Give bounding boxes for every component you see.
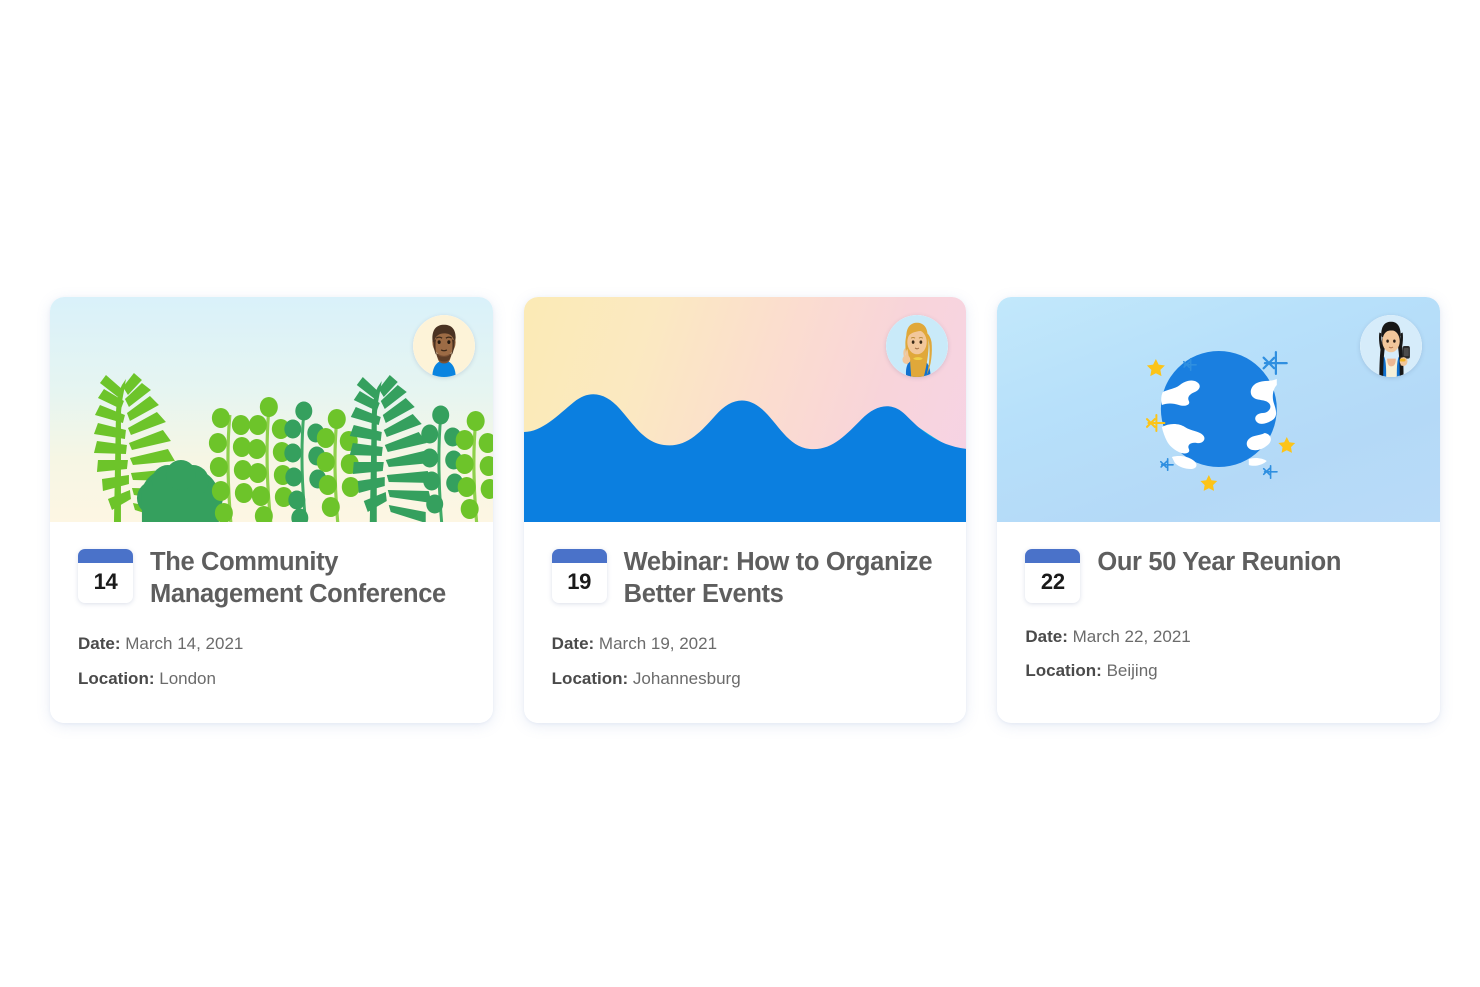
calendar-icon: 19 (552, 549, 607, 603)
date-value: March 22, 2021 (1073, 627, 1191, 646)
card-body: 19 Webinar: How to Organize Better Event… (524, 522, 967, 723)
calendar-icon: 14 (78, 549, 133, 603)
card-title-row: 22 Our 50 Year Reunion (1025, 545, 1412, 603)
date-label: Date: (552, 634, 595, 653)
card-hero-image (50, 297, 493, 522)
event-date-row: Date: March 19, 2021 (552, 634, 939, 654)
event-title: The Community Management Conference (150, 545, 465, 610)
location-value: Johannesburg (633, 669, 741, 688)
wave-primary (524, 394, 967, 522)
location-label: Location: (78, 669, 155, 688)
event-meta: Date: March 19, 2021 Location: Johannesb… (552, 634, 939, 689)
avatar-illustration (886, 315, 948, 377)
card-hero-image (524, 297, 967, 522)
event-date-row: Date: March 14, 2021 (78, 634, 465, 654)
event-meta: Date: March 14, 2021 Location: London (78, 634, 465, 689)
avatar-illustration (413, 315, 475, 377)
sprig-light-f (456, 411, 493, 522)
location-label: Location: (1025, 661, 1102, 680)
calendar-icon-header (552, 549, 607, 563)
calendar-icon-header (1025, 549, 1080, 563)
date-label: Date: (78, 634, 121, 653)
events-page: 14 The Community Management Conference D… (0, 0, 1480, 987)
card-hero-image (997, 297, 1440, 522)
calendar-day-number: 19 (552, 563, 607, 603)
event-location-row: Location: Johannesburg (552, 669, 939, 689)
woman-blonde-peace-sign-avatar[interactable] (886, 315, 948, 377)
man-with-beard-blue-shirt-avatar[interactable] (413, 315, 475, 377)
event-card[interactable]: 19 Webinar: How to Organize Better Event… (524, 297, 967, 723)
location-label: Location: (552, 669, 629, 688)
card-body: 22 Our 50 Year Reunion Date: March 22, 2… (997, 522, 1440, 716)
card-title-row: 14 The Community Management Conference (78, 545, 465, 610)
event-location-row: Location: London (78, 669, 465, 689)
event-date-row: Date: March 22, 2021 (1025, 627, 1412, 647)
location-value: London (159, 669, 216, 688)
calendar-day-number: 22 (1025, 563, 1080, 603)
woman-black-hair-holding-phone-avatar[interactable] (1360, 315, 1422, 377)
date-value: March 14, 2021 (125, 634, 243, 653)
event-location-row: Location: Beijing (1025, 661, 1412, 681)
location-value: Beijing (1107, 661, 1158, 680)
avatar-illustration (1360, 315, 1422, 377)
globe-icon (1161, 351, 1277, 469)
event-card[interactable]: 14 The Community Management Conference D… (50, 297, 493, 723)
bush-shape (137, 460, 223, 522)
event-title: Our 50 Year Reunion (1097, 545, 1341, 578)
date-value: March 19, 2021 (599, 634, 717, 653)
sprig-light-d (317, 409, 360, 522)
event-meta: Date: March 22, 2021 Location: Beijing (1025, 627, 1412, 682)
calendar-day-number: 14 (78, 563, 133, 603)
event-card-grid: 14 The Community Management Conference D… (50, 297, 1440, 723)
calendar-icon: 22 (1025, 549, 1080, 603)
event-title: Webinar: How to Organize Better Events (624, 545, 939, 610)
dark-fern (350, 375, 433, 522)
calendar-icon-header (78, 549, 133, 563)
date-label: Date: (1025, 627, 1068, 646)
card-body: 14 The Community Management Conference D… (50, 522, 493, 723)
card-title-row: 19 Webinar: How to Organize Better Event… (552, 545, 939, 610)
event-card[interactable]: 22 Our 50 Year Reunion Date: March 22, 2… (997, 297, 1440, 723)
sprig-light-b (248, 397, 293, 522)
